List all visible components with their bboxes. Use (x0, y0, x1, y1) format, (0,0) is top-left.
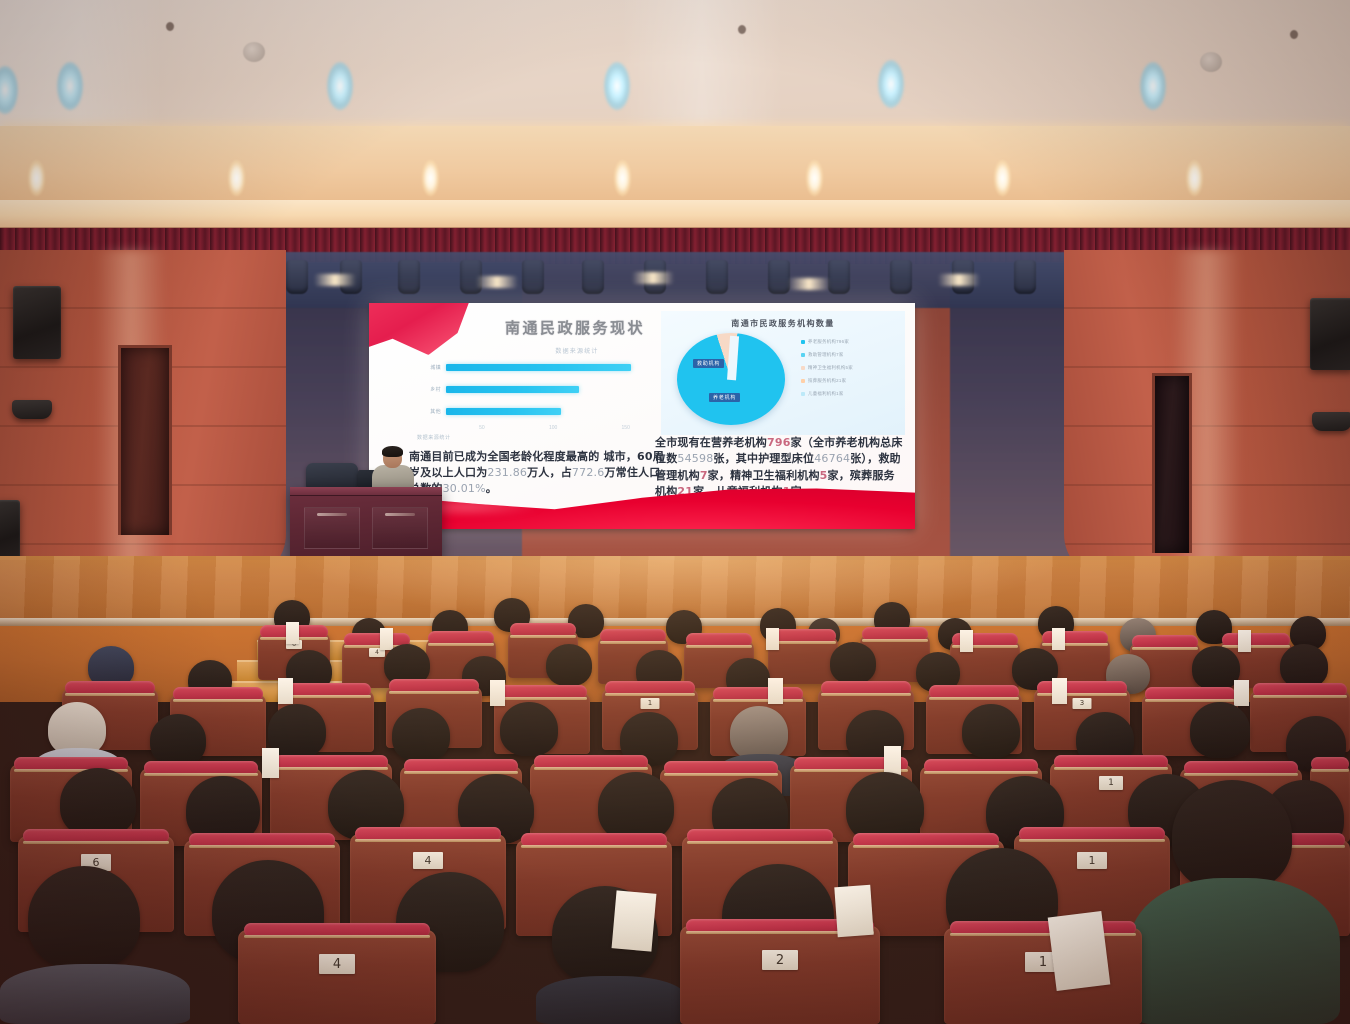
body-stat-population: 231.86 (487, 466, 527, 479)
legend-item: 养老服务机构796家 (801, 339, 897, 345)
wall-speaker-left (13, 286, 61, 359)
name-card (1052, 678, 1067, 704)
seat-number: 1 (641, 698, 660, 709)
audience-head (1192, 646, 1240, 690)
rt-stat-institutions: 796 (767, 436, 791, 449)
audience-head (1190, 702, 1250, 758)
ceiling-warm-band (0, 126, 1350, 208)
downlight-warm-icon (422, 160, 439, 196)
downlight-warm-icon (806, 160, 823, 196)
downlight-warm-icon (228, 160, 245, 196)
ceiling-sensor-icon (738, 25, 746, 34)
legend-item: 精神卫生福利机构5家 (801, 365, 897, 371)
pie-chart: 救助机构 养老机构 (677, 333, 785, 425)
name-card (286, 622, 299, 644)
pie-chart-title: 南通市民政服务机构数量 (661, 318, 905, 329)
name-card (1052, 628, 1065, 650)
bar-fill (446, 386, 579, 393)
stage-monitor-left (12, 400, 52, 419)
legend-swatch (801, 392, 805, 396)
legend-item: 救助管理机构7家 (801, 352, 897, 358)
name-card (960, 630, 973, 652)
stage-door-right[interactable] (1152, 373, 1192, 553)
pie-label-small: 救助机构 (693, 359, 724, 368)
slide-body-left: 南通目前已成为全国老龄化程度最高的 城市，60周岁及以上人口为231.86万人，… (409, 449, 667, 497)
name-card (1238, 630, 1251, 652)
pie-label-main: 养老机构 (709, 393, 740, 402)
rt-stat-relief: 7 (700, 469, 708, 482)
wall-speaker-right (1310, 298, 1350, 370)
bar-fill (446, 408, 561, 415)
downlight-blue-icon (327, 62, 353, 110)
seat-number: 4 (413, 852, 443, 869)
legend-label: 殡葬服务机构21家 (808, 378, 846, 384)
downlight-blue-icon (878, 60, 904, 108)
bar-chart-footer: 数据来源统计 (417, 434, 451, 441)
body-line-2-post: 万人， (527, 466, 561, 479)
audience-head (28, 866, 140, 970)
pie-chart-panel: 南通市民政服务机构数量 救助机构 养老机构 养老服务机构796家 救助管理机构7… (661, 311, 905, 435)
downlight-blue-icon (1140, 62, 1166, 110)
body-stat-percent: 30.01% (443, 482, 486, 495)
legend-swatch (801, 366, 805, 370)
seat-number: 4 (319, 954, 355, 974)
stage-door-left[interactable] (118, 345, 172, 535)
ceiling-sensor-icon (166, 22, 174, 31)
legend-label: 儿童福利机构1家 (808, 391, 844, 397)
audience-head (730, 706, 788, 760)
led-presentation-screen[interactable]: 南通民政服务现状 数据来源统计 城镇 乡村 其他 50 100 150 数据来源… (369, 303, 915, 529)
legend-swatch (801, 353, 805, 357)
name-card (490, 680, 505, 706)
body-line-3-post: 。 (486, 482, 497, 495)
lighting-truss (222, 252, 1132, 308)
floor-speaker-left (0, 500, 20, 562)
audience-head (500, 702, 558, 756)
seat[interactable]: 1 (944, 928, 1142, 1024)
bar-chart-axis: 50 100 150 (447, 425, 662, 431)
body-line-3-pre: 占 (561, 466, 572, 479)
body-line-1: 南通目前已成为全国老龄化程度最高的 (409, 450, 599, 463)
audience-area: 6 4 (0, 596, 1350, 1024)
pie-chart-legend: 养老服务机构796家 救助管理机构7家 精神卫生福利机构5家 殡葬服务机构21家… (801, 339, 897, 397)
audience-head (598, 772, 674, 842)
legend-swatch (801, 379, 805, 383)
axis-tick: 50 (479, 425, 485, 431)
audience-shoulders (1130, 878, 1340, 1024)
ceiling-speaker-icon (243, 42, 265, 62)
seat[interactable]: 4 (238, 930, 436, 1024)
seat[interactable]: 2 (680, 926, 880, 1024)
bar-label: 城镇 (415, 364, 441, 371)
downlight-blue-icon (604, 62, 630, 110)
axis-tick: 150 (622, 425, 630, 431)
slide-title: 南通民政服务现状 (455, 317, 695, 338)
ceiling-sensor-icon (1290, 30, 1298, 39)
downlight-warm-icon (614, 160, 631, 196)
legend-item: 儿童福利机构1家 (801, 391, 897, 397)
seat-number: 3 (1073, 698, 1092, 709)
handout-paper (834, 885, 873, 937)
audience-head (60, 768, 136, 838)
audience-head (392, 708, 450, 762)
bar-chart: 城镇 乡村 其他 50 100 150 数据来源统计 (415, 359, 665, 429)
presenter-desk (290, 487, 442, 561)
downlight-warm-icon (1186, 160, 1203, 196)
rt-stat-nursing-beds: 46764 (814, 452, 850, 465)
rt-stat-mental: 5 (820, 469, 828, 482)
legend-label: 养老服务机构796家 (808, 339, 849, 345)
seat-number: 1 (1077, 852, 1107, 869)
bar-fill (446, 364, 631, 371)
downlight-warm-icon (994, 160, 1011, 196)
legend-label: 救助管理机构7家 (808, 352, 844, 358)
name-card (766, 628, 779, 650)
legend-item: 殡葬服务机构21家 (801, 378, 897, 384)
name-card (380, 628, 393, 650)
ceiling-speaker-icon (1200, 52, 1222, 72)
presenter-person (372, 448, 414, 492)
audience-head (1172, 780, 1292, 892)
body-stat-resident: 772.6 (572, 466, 605, 479)
audience-head (1280, 644, 1328, 688)
handout-paper (612, 890, 657, 951)
name-card (262, 748, 279, 778)
downlight-blue-icon (57, 62, 83, 110)
rt-seg-3: 张，其中护理型床位 (713, 452, 814, 465)
seat-number: 2 (762, 950, 798, 970)
name-card (278, 678, 293, 704)
rt-seg-1: 全市现有在营养老机构 (655, 436, 767, 449)
audience-head (150, 714, 206, 766)
presenter-chair (306, 463, 358, 490)
downlight-warm-icon (28, 160, 45, 196)
audience-shoulders (536, 976, 686, 1024)
rt-seg-5: 家，精神卫生福利机构 (708, 469, 820, 482)
name-card (768, 678, 783, 704)
audience-head (830, 642, 876, 684)
bar-label: 乡村 (415, 386, 441, 393)
stage-monitor-right (1312, 412, 1350, 431)
audience-shoulders (0, 964, 190, 1024)
legend-swatch (801, 340, 805, 344)
legend-label: 精神卫生福利机构5家 (808, 365, 853, 371)
auditorium-scene: 南通民政服务现状 数据来源统计 城镇 乡村 其他 50 100 150 数据来源… (0, 0, 1350, 1024)
audience-head (962, 704, 1020, 758)
handout-paper (1048, 911, 1111, 991)
name-card (1234, 680, 1249, 706)
bar-label: 其他 (415, 408, 441, 415)
audience-head (546, 644, 592, 686)
rt-stat-beds: 54598 (677, 452, 713, 465)
slide-subtitle: 数据来源统计 (477, 346, 677, 355)
axis-tick: 100 (549, 425, 557, 431)
seat-number: 1 (1099, 776, 1123, 790)
